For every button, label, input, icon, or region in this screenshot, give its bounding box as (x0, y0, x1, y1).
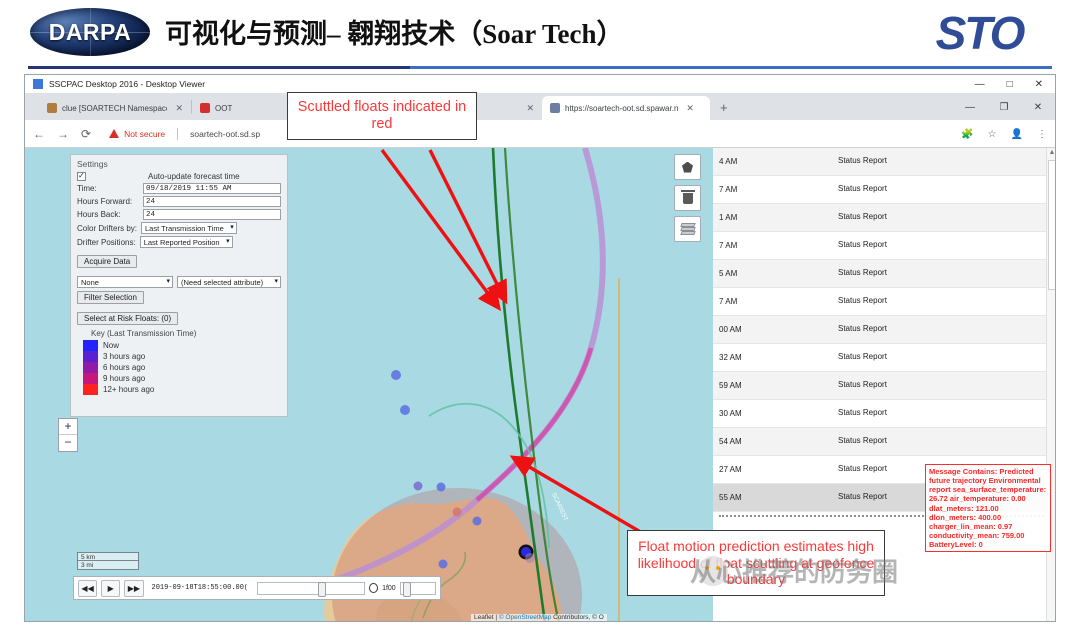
legend-item: 6 hours ago (83, 362, 281, 373)
window-close-button[interactable]: ✕ (1035, 80, 1043, 90)
legend-swatch (83, 384, 98, 395)
window-minimize-button[interactable]: — (975, 80, 985, 90)
scale-km: 5 km (77, 552, 139, 561)
legend-swatch (83, 340, 98, 351)
message-contains-box: Message Contains: Predicted future traje… (925, 464, 1051, 552)
select-at-risk-floats-button[interactable]: Select at Risk Floats: (0) (77, 312, 178, 325)
row-type: Status Report (838, 493, 933, 501)
filter-selection-button[interactable]: Filter Selection (77, 291, 144, 304)
zoom-in-button[interactable]: + (59, 419, 77, 435)
legend-label: 9 hours ago (103, 374, 145, 383)
row-time: 7 AM (713, 185, 838, 194)
table-row[interactable]: 54 AM Status Report (713, 428, 1055, 456)
row-time: 59 AM (713, 381, 838, 390)
legend-title: Key (Last Transmission Time) (91, 329, 281, 338)
playback-timestamp: 2019-09-18T18:55:00.00( (152, 584, 253, 592)
legend-item: 3 hours ago (83, 351, 281, 362)
delete-shape-button[interactable] (674, 185, 701, 211)
security-label: Not secure (124, 129, 165, 139)
attribution-suffix: Contributors, © O (551, 614, 603, 621)
autoupdate-label: Auto-update forecast time (148, 172, 240, 181)
security-indicator[interactable]: Not secure (109, 129, 165, 139)
map-attribution: Leaflet | © OpenStreetMap Contributors, … (471, 614, 607, 621)
row-time: 1 AM (713, 213, 838, 222)
acquire-data-button[interactable]: Acquire Data (77, 255, 137, 268)
tab-soartech-oot[interactable]: https://soartech-oot.sd.spawar.n ✕ (542, 96, 710, 120)
tab-label: OOT (215, 104, 232, 113)
row-time: 55 AM (713, 493, 838, 502)
autoupdate-checkbox[interactable] (77, 172, 86, 181)
layers-button[interactable] (674, 216, 701, 242)
hours-back-input[interactable]: 24 (143, 209, 281, 220)
desktop-viewer-window: SSCPAC Desktop 2016 - Desktop Viewer — □… (24, 74, 1056, 622)
speed-slider[interactable] (400, 582, 436, 595)
row-type: Status Report (838, 437, 933, 445)
table-row[interactable]: 00 AM Status Report (713, 316, 1055, 344)
filter-row: None (Need selected attribute) (77, 276, 281, 288)
new-tab-button[interactable]: + (710, 100, 738, 115)
table-row[interactable]: 7 AM Status Report (713, 232, 1055, 260)
table-row[interactable]: 7 AM Status Report (713, 288, 1055, 316)
row-type: Status Report (838, 213, 933, 221)
table-row[interactable]: 32 AM Status Report (713, 344, 1055, 372)
omnibox-toolbar: ← → ⟳ Not secure soartech-oot.sd.sp 🧩 ☆ … (25, 120, 1055, 148)
zoom-out-button[interactable]: − (59, 435, 77, 451)
legend-swatch (83, 351, 98, 362)
table-row[interactable]: 7 AM Status Report (713, 176, 1055, 204)
close-icon[interactable]: ✕ (686, 103, 694, 114)
chrome-window-controls: — ❐ ✕ (953, 94, 1055, 120)
row-time: 5 AM (713, 269, 838, 278)
reload-icon[interactable]: ⟳ (81, 127, 91, 141)
app-viewport: SCARIEST Settings Auto-update forecast t… (25, 148, 1055, 622)
drifter-positions-select[interactable]: Last Reported Position (140, 236, 233, 248)
leaflet-map[interactable]: SCARIEST Settings Auto-update forecast t… (25, 148, 713, 622)
legend-label: 6 hours ago (103, 363, 145, 372)
time-slider[interactable] (257, 582, 365, 595)
row-time: 4 AM (713, 157, 838, 166)
row-time: 32 AM (713, 353, 838, 362)
oot-icon (200, 103, 210, 113)
row-type: Status Report (838, 157, 933, 165)
time-slider-knob[interactable] (318, 582, 326, 597)
filter-value-select[interactable]: (Need selected attribute) (177, 276, 281, 288)
profile-icon[interactable]: 👤 (1011, 129, 1023, 140)
url-input[interactable]: soartech-oot.sd.sp (190, 129, 260, 139)
darpa-logo-text: DARPA (49, 19, 132, 46)
play-button[interactable]: ▶ (101, 580, 120, 597)
osm-link[interactable]: © OpenStreetMap (499, 614, 551, 621)
legend-item: 9 hours ago (83, 373, 281, 384)
chrome-restore-button[interactable]: ❐ (987, 102, 1021, 113)
fast-forward-button[interactable]: ▶▶ (124, 580, 143, 597)
color-drifters-label: Color Drifters by: (77, 224, 137, 233)
close-icon[interactable]: ✕ (175, 103, 183, 114)
tab-clue[interactable]: clue [SOARTECH Namespace] [Jc ✕ (39, 96, 191, 120)
globe-icon (550, 103, 560, 113)
table-row[interactable]: 1 AM Status Report (713, 204, 1055, 232)
row-time: 7 AM (713, 297, 838, 306)
back-icon[interactable]: ← (33, 127, 45, 141)
row-type: Status Report (838, 409, 933, 417)
legend-item: 12+ hours ago (83, 384, 281, 395)
chrome-minimize-button[interactable]: — (953, 102, 987, 113)
menu-icon[interactable]: ⋮ (1037, 129, 1047, 140)
slide-header: DARPA 可视化与预测– 翱翔技术（Soar Tech） STO (0, 0, 1080, 64)
chrome-browser: clue [SOARTECH Namespace] [Jc ✕ OOT ✕ OO… (25, 94, 1055, 622)
chrome-close-button[interactable]: ✕ (1021, 102, 1055, 113)
settings-panel: Settings Auto-update forecast time Time:… (70, 154, 288, 417)
settings-title: Settings (77, 159, 281, 169)
trash-icon (683, 193, 693, 204)
window-title: SSCPAC Desktop 2016 - Desktop Viewer (49, 79, 205, 89)
annotation-scuttled-floats: Scuttled floats indicated in red (287, 92, 477, 140)
window-maximize-button[interactable]: □ (1007, 80, 1013, 90)
playback-speed-label: 1f00 (382, 585, 396, 592)
extension-icon[interactable]: 🧩 (961, 129, 973, 140)
map-zoom-control: + − (58, 418, 78, 452)
row-type: Status Report (838, 465, 933, 473)
speed-slider-knob[interactable] (403, 582, 411, 597)
legend-label: Now (103, 341, 119, 350)
legend-item: Now (83, 340, 281, 351)
close-icon[interactable]: ✕ (526, 103, 534, 114)
table-row[interactable]: 5 AM Status Report (713, 260, 1055, 288)
autoupdate-row: Auto-update forecast time (77, 172, 281, 181)
scroll-up-icon[interactable]: ▲ (1048, 149, 1055, 156)
scale-mi: 3 mi (77, 561, 139, 570)
darpa-logo: DARPA (30, 8, 150, 56)
user-icon (47, 103, 57, 113)
legend-swatch (83, 373, 98, 384)
window-controls: — □ ✕ (975, 75, 1049, 94)
filter-attribute-select[interactable]: None (77, 276, 173, 288)
map-scale-bar: 5 km 3 mi (77, 552, 139, 570)
time-row: Time: 09/18/2019 11:55 AM (77, 183, 281, 194)
layers-icon (681, 223, 695, 235)
attribution-prefix: Leaflet | (474, 614, 499, 621)
star-icon[interactable]: ☆ (988, 129, 997, 140)
legend-swatch (83, 362, 98, 373)
draw-polygon-button[interactable] (674, 154, 701, 180)
hours-forward-label: Hours Forward: (77, 197, 139, 206)
sto-logo: STO (897, 4, 1062, 62)
forward-icon[interactable]: → (57, 127, 69, 141)
row-type: Status Report (838, 353, 933, 361)
window-titlebar: SSCPAC Desktop 2016 - Desktop Viewer — □… (25, 75, 1055, 94)
app-icon (33, 79, 43, 89)
row-type: Status Report (838, 297, 933, 305)
row-time: 27 AM (713, 465, 838, 474)
legend-label: 12+ hours ago (103, 385, 154, 394)
omnibox-divider (177, 128, 178, 140)
row-time: 54 AM (713, 437, 838, 446)
tab-strip: clue [SOARTECH Namespace] [Jc ✕ OOT ✕ OO… (25, 94, 1055, 120)
warning-triangle-icon (109, 129, 119, 138)
drifter-positions-label: Drifter Positions: (77, 238, 136, 247)
table-row[interactable]: 4 AM Status Report (713, 148, 1055, 176)
page-title: 可视化与预测– 翱翔技术（Soar Tech） (165, 12, 624, 51)
row-type: Status Report (838, 325, 933, 333)
row-time: 00 AM (713, 325, 838, 334)
row-type: Status Report (838, 381, 933, 389)
polygon-icon (682, 162, 693, 173)
watermark-text: 从心推荐的防务圈 (690, 552, 898, 589)
color-drifters-row: Color Drifters by: Last Transmission Tim… (77, 222, 281, 234)
header-divider-accent (410, 66, 1052, 69)
row-time: 30 AM (713, 409, 838, 418)
clock-icon (369, 583, 378, 593)
drifter-positions-row: Drifter Positions: Last Reported Positio… (77, 236, 281, 248)
row-type: Status Report (838, 241, 933, 249)
row-type: Status Report (838, 269, 933, 277)
playback-toolbar: ◀◀ ▶ ▶▶ 2019-09-18T18:55:00.00( 1f00 (73, 576, 441, 600)
omnibox-actions: 🧩 ☆ 👤 ⋮ (961, 120, 1047, 148)
time-label: Time: (77, 184, 139, 193)
table-row[interactable]: 30 AM Status Report (713, 400, 1055, 428)
hours-forward-input[interactable]: 24 (143, 196, 281, 207)
color-drifters-select[interactable]: Last Transmission Time (141, 222, 237, 234)
scrollbar-thumb[interactable] (1048, 160, 1055, 290)
rewind-button[interactable]: ◀◀ (78, 580, 97, 597)
tab-label: clue [SOARTECH Namespace] [Jc (62, 104, 167, 113)
map-tools (674, 154, 701, 247)
hours-back-row: Hours Back: 24 (77, 209, 281, 220)
hours-forward-row: Hours Forward: 24 (77, 196, 281, 207)
row-type: Status Report (838, 185, 933, 193)
table-row[interactable]: 59 AM Status Report (713, 372, 1055, 400)
row-time: 7 AM (713, 241, 838, 250)
hours-back-label: Hours Back: (77, 210, 139, 219)
time-input[interactable]: 09/18/2019 11:55 AM (143, 183, 281, 194)
legend-label: 3 hours ago (103, 352, 145, 361)
tab-label: https://soartech-oot.sd.spawar.n (565, 104, 678, 113)
